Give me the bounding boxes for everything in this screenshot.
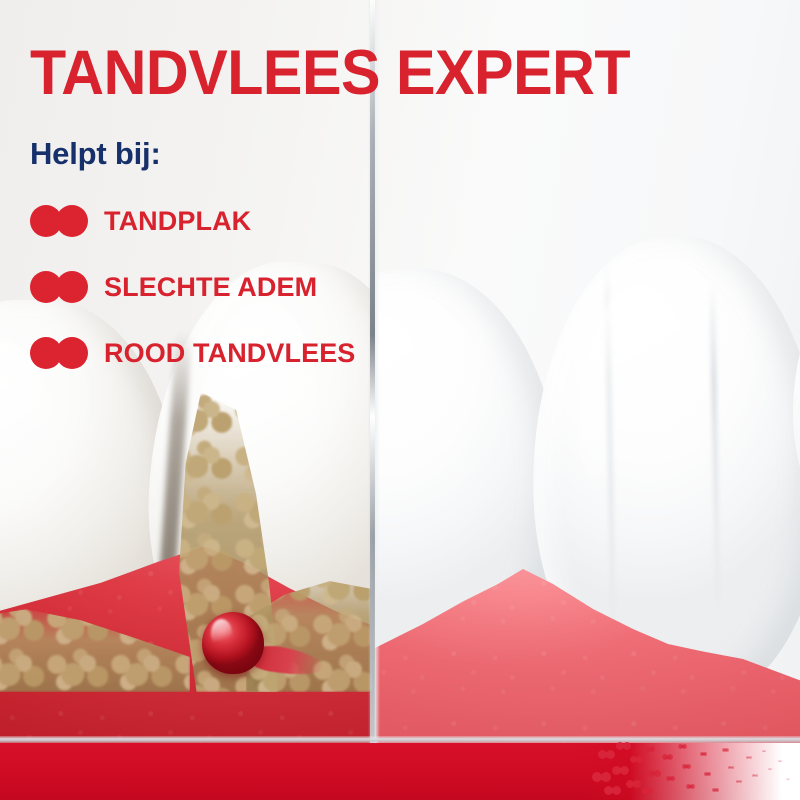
peanut-particle-waist (601, 752, 611, 757)
peanut-particle-waist (595, 775, 606, 780)
after-panel (373, 0, 800, 744)
benefit-item: TANDPLAK (30, 198, 355, 244)
peanut-bullet-icon (30, 337, 88, 369)
peanut-particle-waist (723, 749, 727, 751)
peanut-bullet-icon (30, 205, 88, 237)
peanut-particle-waist (705, 773, 709, 775)
peanut-particle-waist (779, 761, 781, 762)
peanut-particle-waist (684, 765, 690, 768)
advertisement-canvas: TANDVLEES EXPERT Helpt bij: TANDPLAKSLEC… (0, 0, 800, 800)
peanut-particle-waist (646, 748, 653, 751)
benefit-item: ROOD TANDVLEES (30, 330, 355, 376)
subheading: Helpt bij: (30, 136, 161, 172)
peanut-particle-waist (619, 744, 628, 748)
tooth-surface (793, 252, 800, 552)
peanut-particle-waist (769, 769, 771, 770)
before-after-divider (368, 0, 380, 744)
benefit-item: SLECHTE ADEM (30, 264, 355, 310)
benefit-label: SLECHTE ADEM (104, 272, 317, 303)
peanut-particle-waist (664, 756, 671, 759)
peanut-particle-dissolve (590, 736, 800, 800)
peanut-particle-waist (629, 782, 638, 786)
peanut-particle-waist (763, 751, 765, 752)
page-title: TANDVLEES EXPERT (30, 42, 630, 105)
tooth-right-3 (793, 252, 800, 552)
peanut-bullet-icon (30, 271, 88, 303)
peanut-particle-waist (688, 785, 694, 788)
benefit-label: TANDPLAK (104, 206, 251, 237)
peanut-particle-waist (668, 777, 674, 780)
peanut-particle-waist (713, 789, 717, 791)
peanut-particle-waist (615, 768, 625, 773)
peanut-particle-waist (607, 788, 617, 793)
benefits-list: TANDPLAKSLECHTE ADEMROOD TANDVLEES (30, 198, 355, 396)
blood-droplet-icon (202, 612, 264, 674)
peanut-particle-waist (787, 779, 789, 780)
peanut-particle-waist (701, 753, 705, 755)
benefit-label: ROOD TANDVLEES (104, 338, 355, 369)
peanut-particle-waist (680, 745, 686, 748)
teeth-illustration (0, 0, 800, 800)
peanut-particle-waist (644, 790, 651, 793)
